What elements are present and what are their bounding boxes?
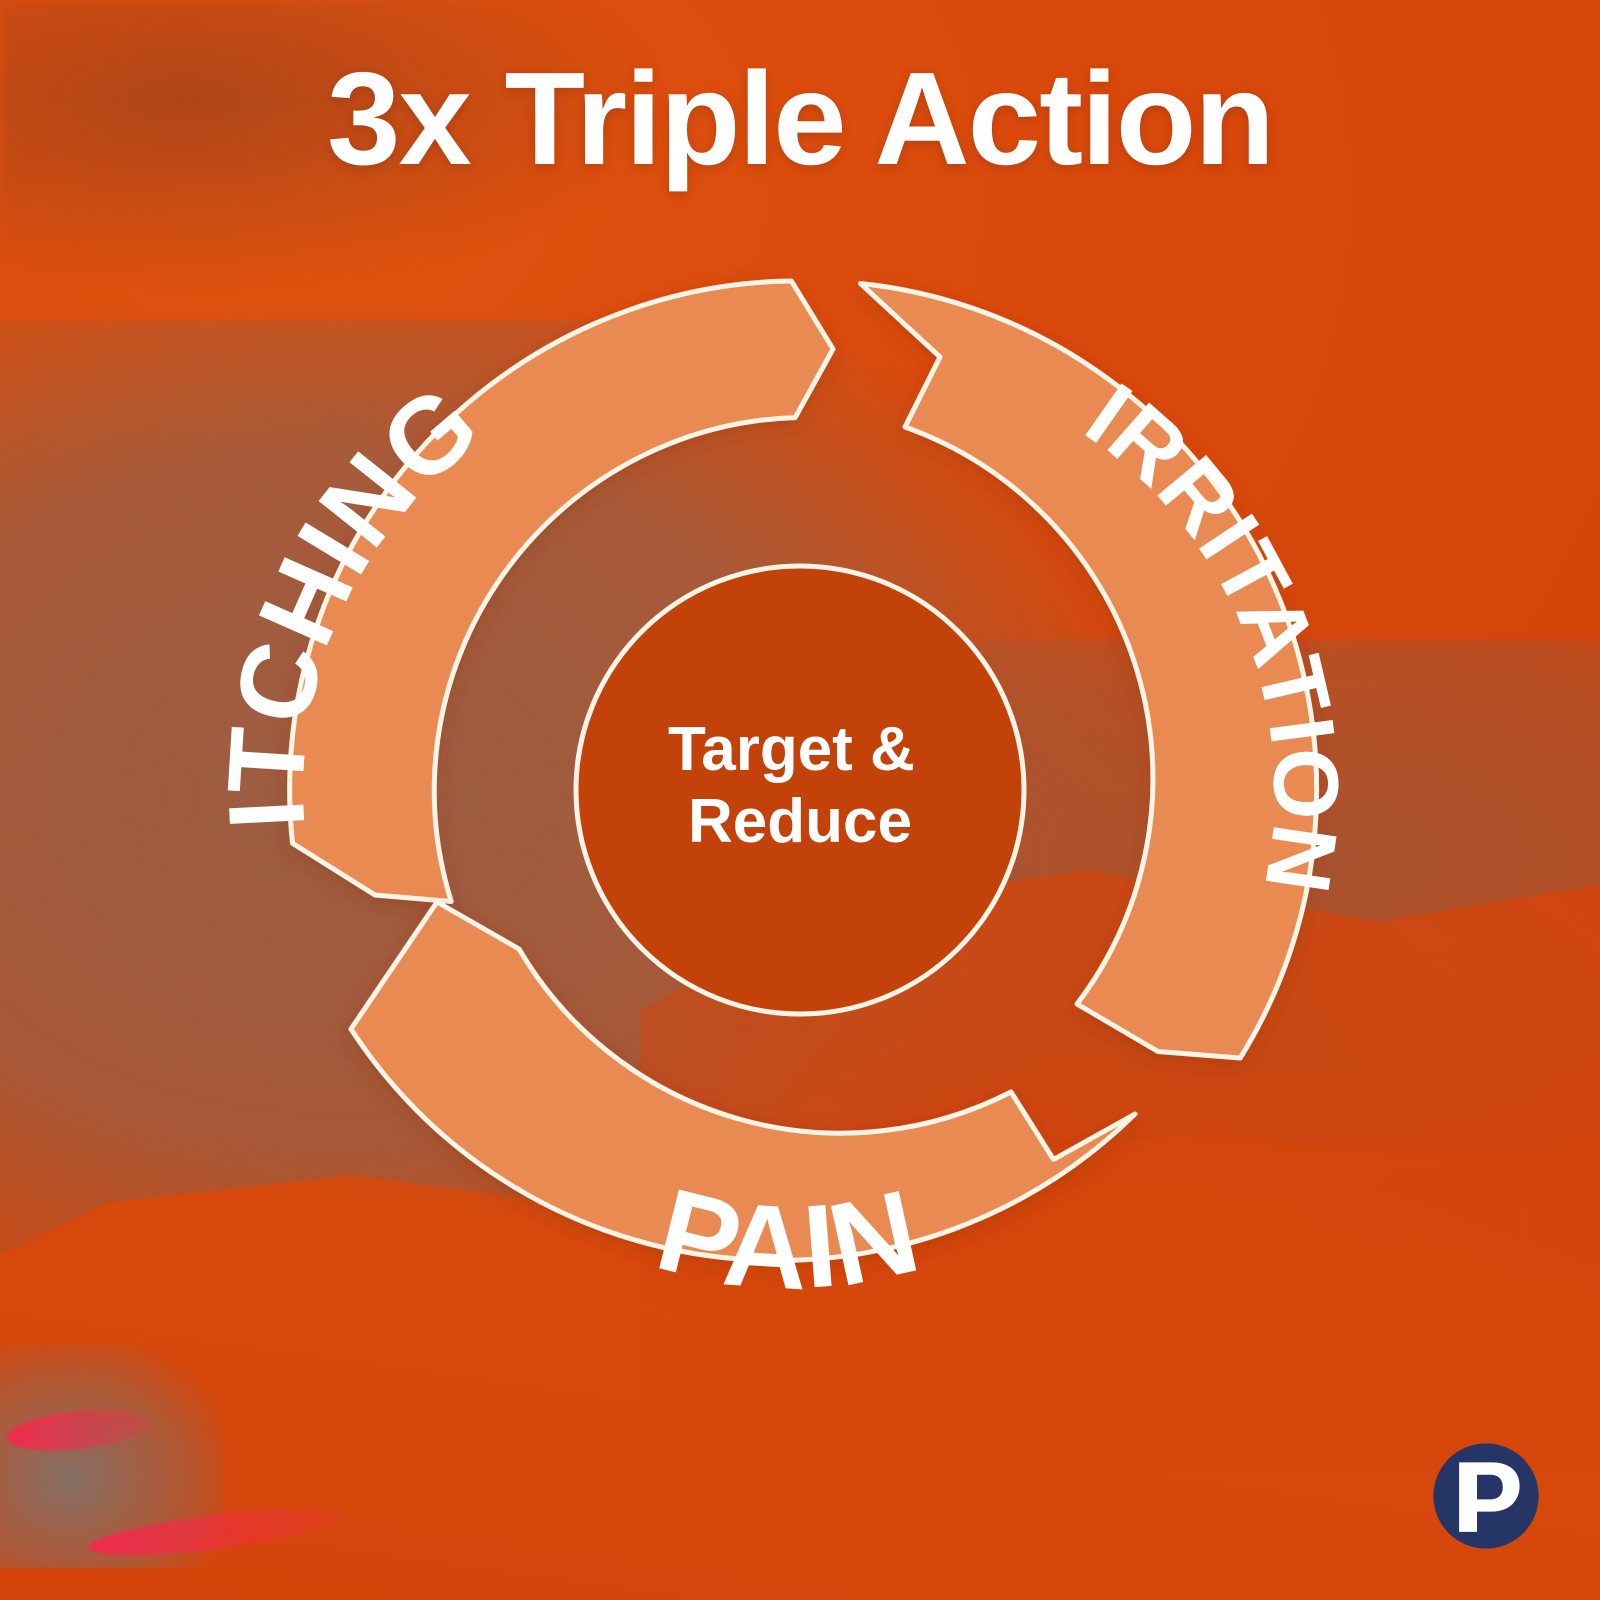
triple-action-cycle-diagram: Target & Reduce ITCHING IRRITATION PAIN (0, 0, 1600, 1600)
hub-label-line1: Target & (668, 715, 915, 784)
brand-logo-icon[interactable] (1430, 1440, 1542, 1552)
segment-label-pain: PAIN (645, 1164, 930, 1316)
poster-canvas: 3x Triple Action (0, 0, 1600, 1600)
hub-label-line2: Reduce (688, 787, 912, 856)
logo-circle (1433, 1443, 1538, 1548)
